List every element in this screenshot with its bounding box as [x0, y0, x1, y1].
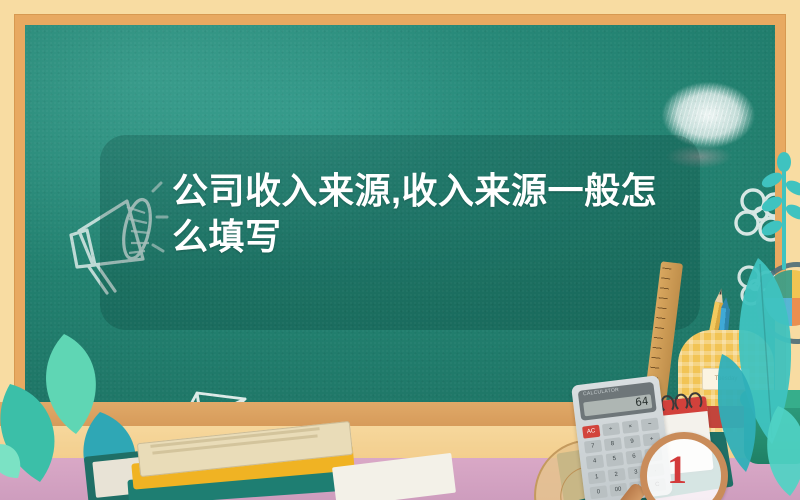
- chalk-smudge-strokes: [647, 67, 765, 163]
- calculator-key[interactable]: ÷: [602, 422, 620, 436]
- calculator-key[interactable]: 8: [604, 437, 622, 451]
- calculator-key[interactable]: 7: [584, 440, 602, 454]
- calculator-key[interactable]: 2: [607, 468, 625, 482]
- calculator-key[interactable]: ×: [621, 420, 639, 434]
- calculator-key[interactable]: 5: [605, 452, 623, 466]
- plant-sprig-right: [758, 150, 800, 270]
- calculator-brand: CALCULATOR: [583, 387, 620, 397]
- magnifier-number: 1: [640, 432, 714, 500]
- chalk-smudge-shadow: [653, 143, 745, 177]
- calculator-key[interactable]: −: [641, 418, 659, 432]
- calculator-key[interactable]: AC: [582, 425, 600, 439]
- calculator-display: 64: [583, 394, 652, 416]
- calculator-key[interactable]: 4: [586, 455, 604, 469]
- cover-image: 公司收入来源,收入来源一般怎么填写: [0, 0, 800, 500]
- megaphone-icon: [57, 173, 169, 297]
- chalk-smudge: [647, 67, 765, 163]
- calculator-screen-bezel: CALCULATOR 64: [578, 382, 657, 421]
- calculator-key[interactable]: 1: [588, 470, 606, 484]
- calculator-key[interactable]: 0: [589, 485, 607, 499]
- plant-leaves-right: [718, 258, 800, 500]
- page-title: 公司收入来源,收入来源一般怎么填写: [172, 168, 664, 260]
- calculator-key[interactable]: 9: [623, 435, 641, 449]
